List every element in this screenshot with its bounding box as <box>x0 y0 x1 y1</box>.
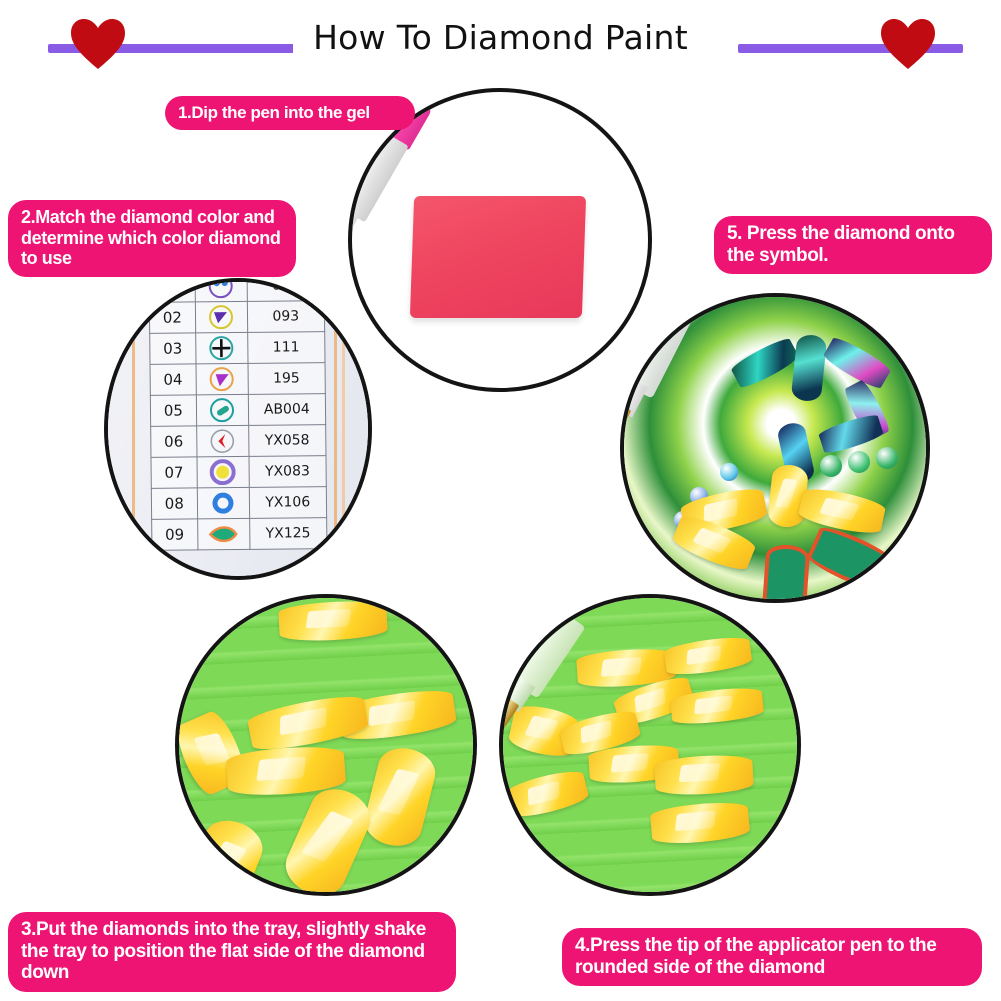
leaf-shape-icon <box>198 520 249 549</box>
table-row: 03 111 <box>150 332 325 365</box>
filled-triangle-circle-icon <box>196 303 247 332</box>
page-title: How To Diamond Paint <box>0 18 1001 57</box>
bubble-5-scene <box>624 297 926 599</box>
cell-code: AB004 <box>248 394 326 426</box>
table-row: 04 195 <box>150 363 325 396</box>
cell-symbol <box>196 394 248 426</box>
slash-oval-circle-icon <box>197 396 248 425</box>
photo-bubble-dip-pen-in-gel <box>348 88 652 392</box>
bubble-1-scene <box>352 92 648 388</box>
table-row: 020 <box>149 278 324 302</box>
chart-edge-line <box>132 282 135 576</box>
filled-dot-circle-icon <box>197 458 248 487</box>
table-row: 06 YX058 <box>151 425 326 458</box>
table-row: 05 AB004 <box>150 394 325 427</box>
gem-round <box>876 447 898 469</box>
symbol-chart-table: 020 02 093 <box>149 278 328 551</box>
cell-number: 02 <box>149 302 195 333</box>
step-label-2: 2.Match the diamond color and determine … <box>8 200 296 277</box>
cell-code: YX106 <box>249 487 327 519</box>
table-row: 08 YX106 <box>151 487 326 520</box>
cell-code: 020 <box>247 278 325 301</box>
printed-petal <box>762 544 811 603</box>
filled-triangle-circle-icon <box>196 365 247 394</box>
cell-symbol <box>196 363 248 395</box>
cell-code: 195 <box>248 363 326 395</box>
cell-number: 03 <box>150 333 196 364</box>
photo-bubble-diamonds-in-tray <box>175 594 477 896</box>
cell-symbol <box>196 425 248 457</box>
cell-number: 08 <box>151 488 197 519</box>
cell-symbol <box>195 278 247 302</box>
chart-edge-line <box>342 282 345 576</box>
chart-edge-line <box>334 282 337 576</box>
step-label-5: 5. Press the diamond onto the symbol. <box>714 216 992 274</box>
step-label-1: 1.Dip the pen into the gel <box>165 96 415 130</box>
photo-bubble-pen-picks-diamond <box>499 594 801 896</box>
cell-number: 04 <box>150 364 196 395</box>
cell-symbol <box>195 332 247 364</box>
step-label-3: 3.Put the diamonds into the tray, slight… <box>8 912 456 992</box>
cell-code: 111 <box>247 332 325 364</box>
photo-bubble-press-onto-symbol <box>620 293 930 603</box>
cell-symbol <box>197 487 249 519</box>
cell-symbol <box>197 518 249 550</box>
pink-gel-pad <box>410 196 586 318</box>
step-label-4: 4.Press the tip of the applicator pen to… <box>562 928 982 986</box>
cell-number: 07 <box>151 457 197 488</box>
cell-number: 06 <box>151 426 197 457</box>
cell-code: 093 <box>247 301 325 333</box>
bubble-2-scene: 020 02 093 <box>108 282 368 576</box>
cell-code: YX125 <box>249 518 327 550</box>
table-row: 07 YX083 <box>151 456 326 489</box>
cell-number <box>149 278 195 302</box>
gem-round <box>820 455 842 477</box>
table-row: 09 YX125 <box>152 518 327 551</box>
plus-circle-icon <box>196 334 247 363</box>
two-dots-circle-icon <box>195 278 246 300</box>
table-row: 02 093 <box>149 301 324 334</box>
bubble-4-scene <box>503 598 797 892</box>
gem-round <box>848 451 870 473</box>
cell-symbol <box>195 301 247 333</box>
gem-round <box>720 463 738 481</box>
cell-symbol <box>197 456 249 488</box>
cell-code: YX058 <box>248 425 326 457</box>
cell-number: 05 <box>150 395 196 426</box>
page-header: How To Diamond Paint <box>0 0 1001 80</box>
bubble-3-scene <box>179 598 473 892</box>
cell-number: 09 <box>152 519 198 550</box>
ring-circle-icon <box>197 489 248 518</box>
photo-bubble-symbol-chart: 020 02 093 <box>104 278 372 580</box>
left-arrow-circle-icon <box>197 427 248 456</box>
cell-code: YX083 <box>249 456 327 488</box>
